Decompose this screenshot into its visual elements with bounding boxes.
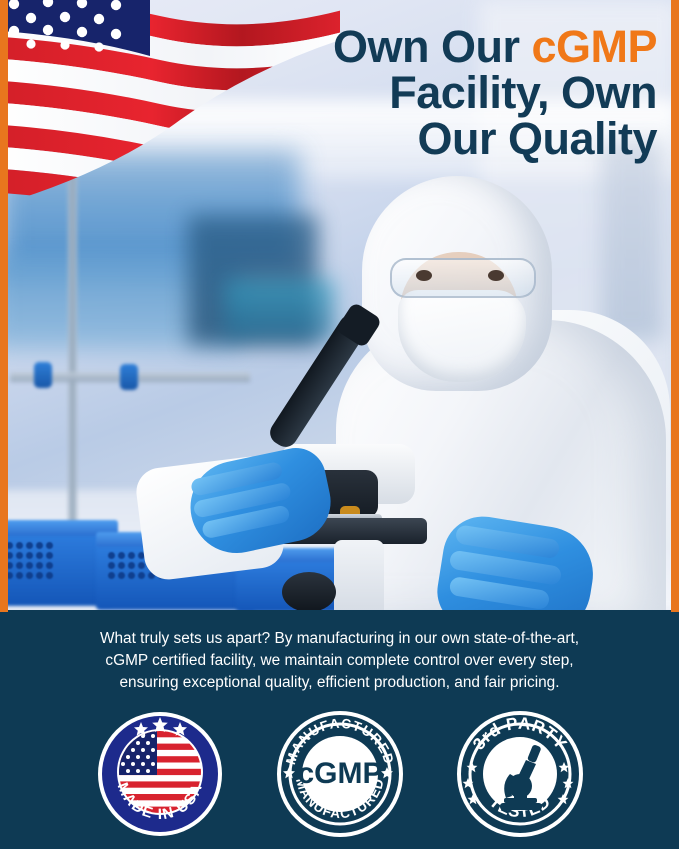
- headline-accent-cgmp: cGMP: [531, 21, 657, 72]
- headline-line2: Facility, Own: [237, 70, 657, 116]
- lab-clip: [120, 364, 138, 390]
- eye: [488, 270, 504, 281]
- frame-border-right: [671, 0, 679, 612]
- eye: [416, 270, 432, 281]
- scientist-figure: [250, 170, 679, 610]
- panel-body-line3: ensuring exceptional quality, efficient …: [36, 672, 644, 694]
- headline-line3: Our Quality: [237, 116, 657, 162]
- badge-third-party-tested: 3rd PARTY TESTED: [456, 710, 584, 838]
- badge-made-in-usa: MADE IN USA: [96, 710, 224, 838]
- badge-cgmp-center-text: cGMP: [297, 757, 382, 790]
- lab-clip: [34, 362, 52, 388]
- certification-badges: MADE IN USA MANUFACTURED: [0, 710, 679, 838]
- headline-line1-pre: Own Our: [333, 21, 532, 72]
- panel-body-line2: cGMP certified facility, we maintain com…: [36, 650, 644, 672]
- tube-rack-wells: [6, 542, 53, 579]
- safety-goggles: [390, 258, 536, 298]
- microscope-pillar: [334, 540, 384, 610]
- page-title: Own Our cGMP Facility, Own Our Quality: [237, 24, 657, 162]
- microscope-focus-knob: [282, 572, 336, 610]
- badge-cgmp: MANUFACTURED MANUFACTURED cGMP: [276, 710, 404, 838]
- panel-body-line1: What truly sets us apart? By manufacturi…: [36, 628, 644, 650]
- panel-body-text: What truly sets us apart? By manufacturi…: [36, 628, 644, 694]
- info-panel: What truly sets us apart? By manufacturi…: [0, 610, 679, 849]
- marketing-poster: Own Our cGMP Facility, Own Our Quality W…: [0, 0, 679, 849]
- frame-border-left: [0, 0, 8, 612]
